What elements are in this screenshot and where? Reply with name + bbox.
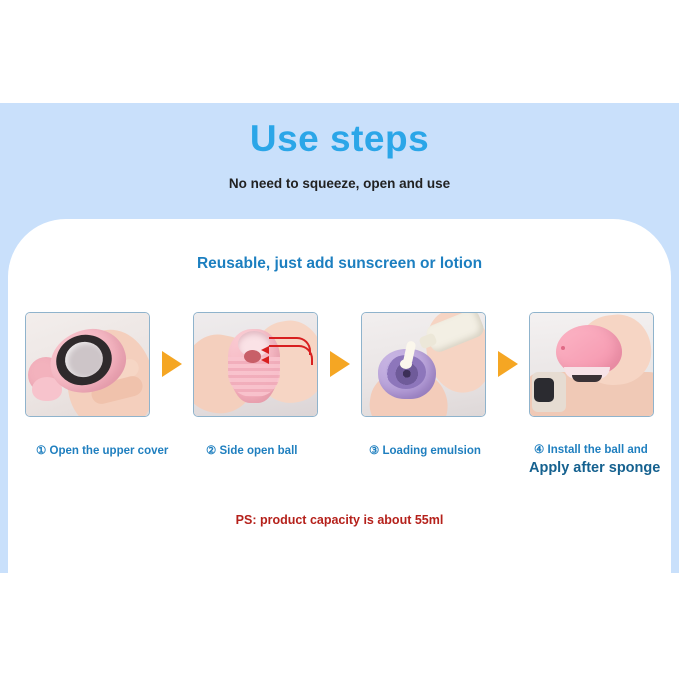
step-image-4 (529, 312, 654, 417)
photo-open-upper-cover (26, 313, 149, 416)
step-caption-3: ③ Loading emulsion (369, 443, 481, 457)
step-caption-2: ② Side open ball (206, 443, 297, 457)
step-image-3 (361, 312, 486, 417)
use-steps-banner: Use steps No need to squeeze, open and u… (0, 103, 679, 573)
arrow-icon-2 (330, 351, 350, 377)
arrow-icon-1 (162, 351, 182, 377)
page-title: Use steps (0, 120, 679, 157)
photo-side-open-ball (194, 313, 317, 416)
photo-apply-on-arm (530, 313, 653, 416)
step-image-1 (25, 312, 150, 417)
step-captions: ① Open the upper cover ② Side open ball … (25, 439, 654, 499)
capacity-note: PS: product capacity is about 55ml (8, 513, 671, 527)
steps-strip (25, 304, 654, 424)
arrow-icon-3 (498, 351, 518, 377)
card-heading: Reusable, just add sunscreen or lotion (8, 255, 671, 273)
step-caption-1: ① Open the upper cover (36, 443, 168, 457)
page-root: Use steps No need to squeeze, open and u… (0, 0, 679, 679)
step-image-2 (193, 312, 318, 417)
steps-card: Reusable, just add sunscreen or lotion (8, 219, 671, 651)
step-caption-4-line2: Apply after sponge (529, 460, 660, 476)
photo-loading-emulsion (362, 313, 485, 416)
page-subtitle: No need to squeeze, open and use (0, 176, 679, 191)
step-caption-4: ④ Install the ball and (534, 442, 648, 456)
